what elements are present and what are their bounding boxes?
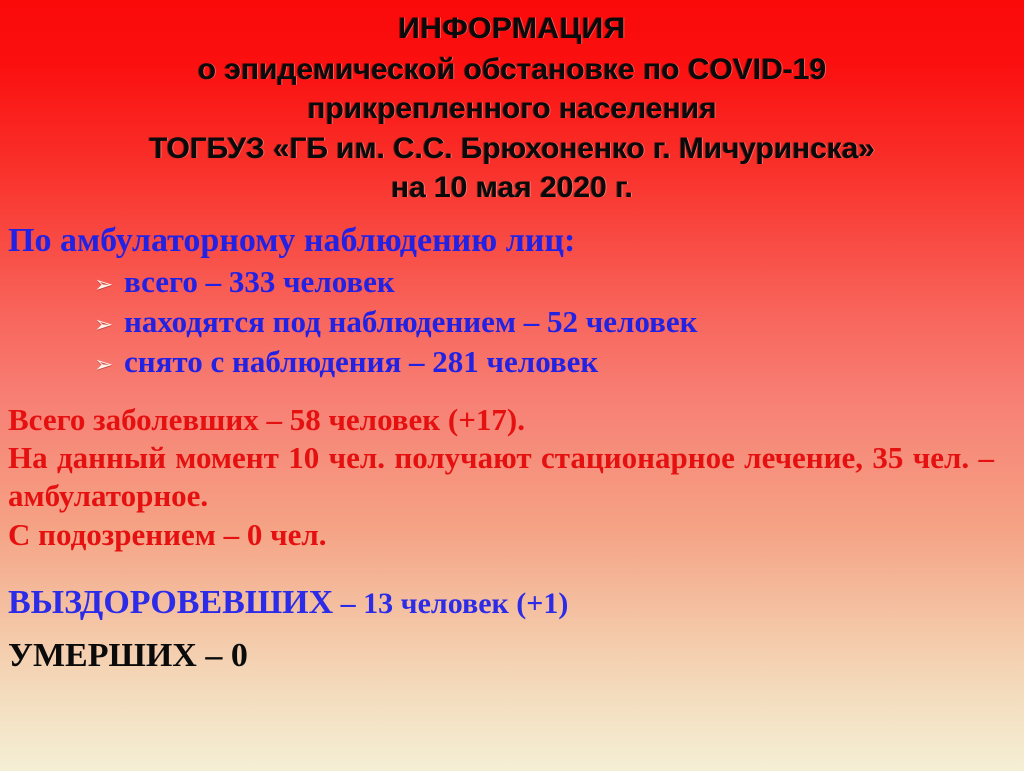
header-date-line: на 10 мая 2020 г. <box>0 171 1024 205</box>
chevron-arrow-bullet-icon: ➢ <box>94 354 124 377</box>
case-statistics-section: Всего заболевших – 58 человек (+17). На … <box>0 401 1024 554</box>
header-institution-line: ТОГБУЗ «ГБ им. С.С. Брюхоненко г. Мичури… <box>0 132 1024 166</box>
slide-header: ИНФОРМАЦИЯ о эпидемической обстановке по… <box>0 0 1024 205</box>
recovered-count-text: – 13 человек (+1) <box>333 587 568 620</box>
outpatient-observation-section: По амбулаторному наблюдению лиц: ➢ всего… <box>0 223 1024 379</box>
chevron-arrow-bullet-icon: ➢ <box>94 314 124 337</box>
treatment-paragraph: На данный момент 10 чел. получают стацио… <box>8 439 994 515</box>
list-item: ➢ снято с наблюдения – 281 человек <box>8 346 1024 379</box>
header-title-line: ИНФОРМАЦИЯ <box>0 12 1024 46</box>
outpatient-released-label: снято с наблюдения – 281 человек <box>124 346 598 379</box>
recovered-label: ВЫЗДОРОВЕВШИХ <box>8 584 333 621</box>
outpatient-section-title: По амбулаторному наблюдению лиц: <box>8 223 1024 259</box>
recovered-line: ВЫЗДОРОВЕВШИХ – 13 человек (+1) <box>8 584 1024 621</box>
died-line: УМЕРШИХ – 0 <box>8 637 1024 674</box>
slide-canvas: ИНФОРМАЦИЯ о эпидемической обстановке по… <box>0 0 1024 771</box>
header-population-line: прикрепленного населения <box>0 92 1024 126</box>
suspected-cases-line: С подозрением – 0 чел. <box>8 516 994 554</box>
outpatient-total-label: всего – 333 человек <box>124 266 395 299</box>
outpatient-bullet-list: ➢ всего – 333 человек ➢ находятся под на… <box>8 266 1024 379</box>
total-cases-line: Всего заболевших – 58 человек (+17). <box>8 401 994 439</box>
chevron-arrow-bullet-icon: ➢ <box>94 274 124 297</box>
header-subtitle-line: о эпидемической обстановке по COVID-19 <box>0 53 1024 87</box>
list-item: ➢ всего – 333 человек <box>8 266 1024 299</box>
summary-section: ВЫЗДОРОВЕВШИХ – 13 человек (+1) УМЕРШИХ … <box>0 584 1024 675</box>
outpatient-under-observation-label: находятся под наблюдением – 52 человек <box>124 306 697 339</box>
list-item: ➢ находятся под наблюдением – 52 человек <box>8 306 1024 339</box>
